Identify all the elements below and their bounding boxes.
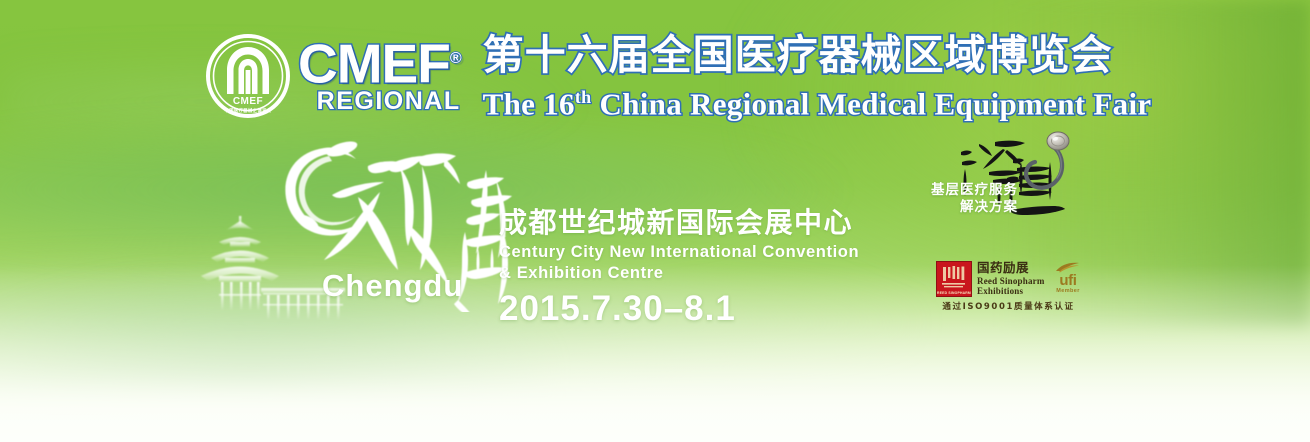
svg-text:REED SINOPHARM: REED SINOPHARM [937,291,971,295]
forum-tagline-line2: 解决方案 [900,199,1018,216]
reed-name-chinese: 国药励展 [977,261,1049,275]
sponsor-block: REED SINOPHARM 国药励展 Reed Sinopharm Exhib… [936,261,1081,313]
chengdu-romanized: Chengdu [322,268,463,304]
sponsor-row: REED SINOPHARM 国药励展 Reed Sinopharm Exhib… [936,261,1081,297]
reed-name-english: Reed Sinopharm Exhibitions [977,276,1049,296]
reed-seal-icon: REED SINOPHARM [936,261,972,297]
cmef-wordmark-text: CMEF [298,32,450,94]
cmef-regional-banner: CMEF 中国医疗器械之博览会 CMEF® REGIONAL 第十六届全国医疗器… [0,0,1310,442]
event-dates: 2015.7.30–8.1 [499,289,859,329]
ufi-logo: ufi Member [1055,261,1081,295]
trademark-icon: ® [450,50,461,67]
reed-name-english-line2: Exhibitions [977,286,1023,296]
fair-title-english-post: China Regional Medical Equipment Fair [591,86,1151,121]
ufi-wordmark: ufi [1055,273,1081,288]
forum-tagline-line1: 基层医疗服务 [931,182,1018,198]
ufi-member-label: Member [1055,288,1081,295]
fair-title-english-pre: The 16 [483,86,575,121]
fair-title-english: The 16th China Regional Medical Equipmen… [483,80,1152,121]
fair-title-chinese: 第十六届全国医疗器械区域博览会 [483,32,1152,79]
cmef-wordmark-block: CMEF® REGIONAL [298,32,461,115]
venue-name-english-line2: & Exhibition Centre [499,264,664,282]
venue-name-english: Century City New International Conventio… [499,242,859,284]
forum-tagline: 基层医疗服务 解决方案 [900,182,1018,216]
svg-text:中国医疗器械之博览会: 中国医疗器械之博览会 [225,107,272,114]
cmef-emblem-icon: CMEF 中国医疗器械之博览会 [206,34,290,118]
fair-title-block: 第十六届全国医疗器械区域博览会 The 16th China Regional … [483,32,1152,121]
svg-text:CMEF: CMEF [233,96,263,107]
cmef-subword: REGIONAL [298,88,461,115]
cmef-wordmark: CMEF® [298,32,461,90]
header-lockup: CMEF 中国医疗器械之博览会 CMEF® REGIONAL 第十六届全国医疗器… [206,32,1151,121]
reed-sinopharm-name: 国药励展 Reed Sinopharm Exhibitions [977,261,1049,296]
reed-name-english-line1: Reed Sinopharm [977,276,1045,286]
venue-name-chinese: 成都世纪城新国际会展中心 [499,206,859,239]
ordinal-suffix: th [575,87,592,107]
venue-name-english-line1: Century City New International Conventio… [499,243,859,261]
iso-certification-label: 通过ISO9001质量体系认证 [936,302,1081,313]
venue-block: 成都世纪城新国际会展中心 Century City New Internatio… [499,206,859,329]
